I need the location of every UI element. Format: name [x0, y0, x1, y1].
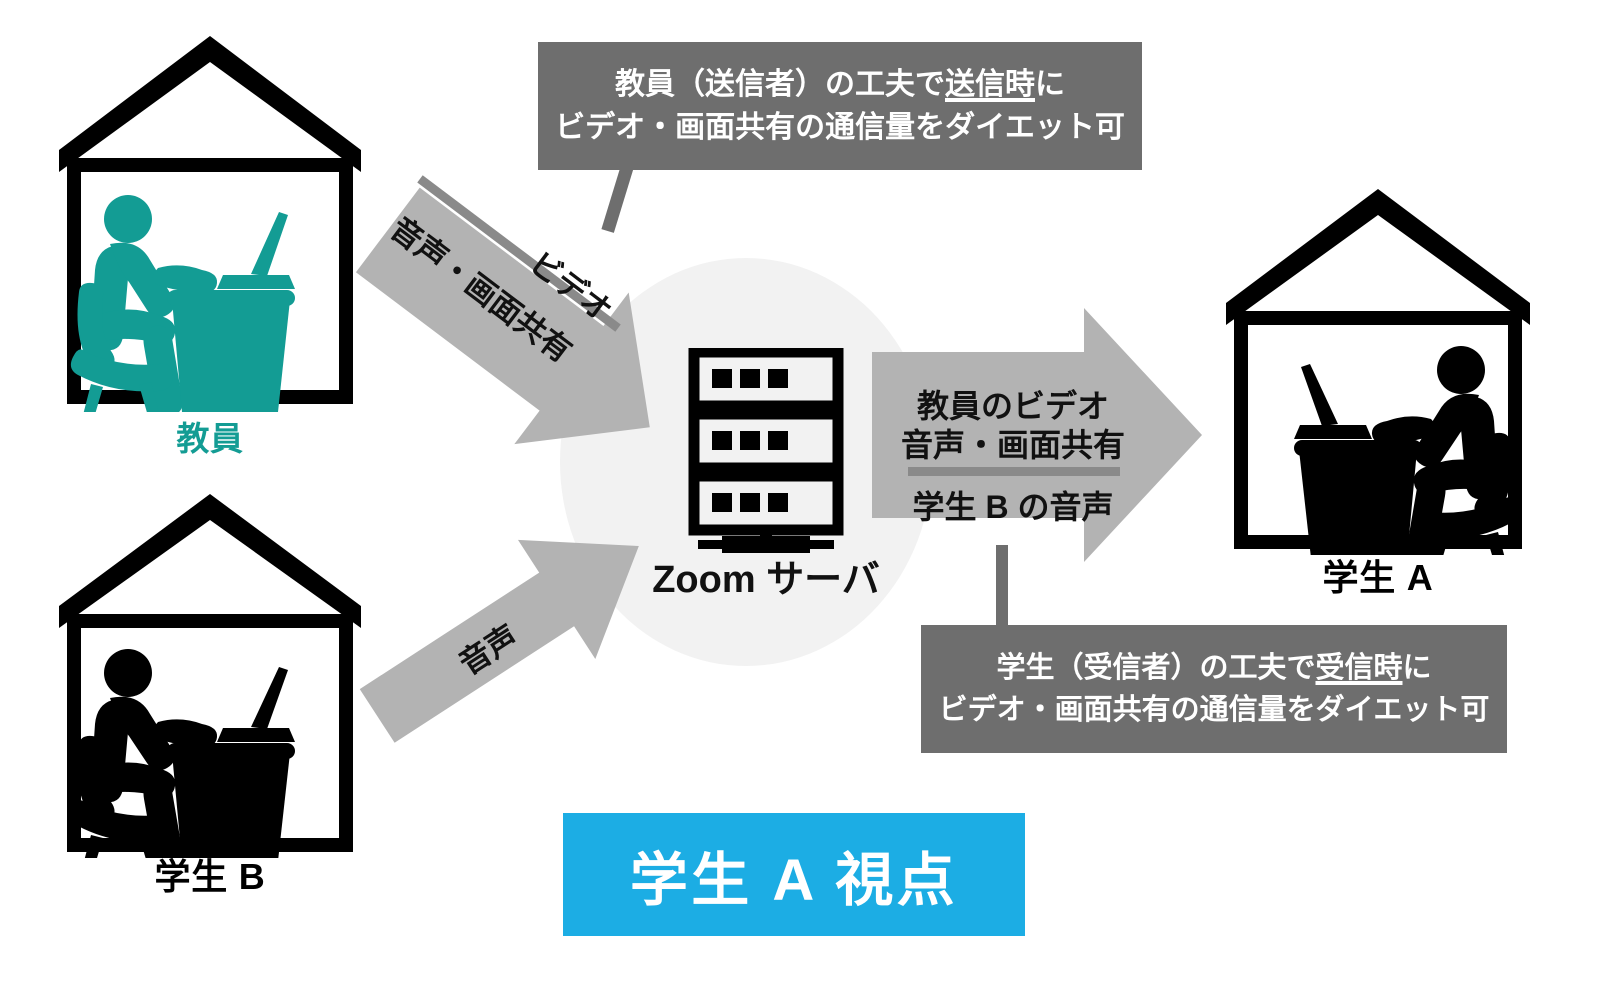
viewpoint-banner: 学生 A 視点	[563, 813, 1025, 936]
student-a-house	[1222, 185, 1534, 555]
student-b-figure-icon	[71, 649, 295, 858]
receiver-callout-line1-pre: 学生（受信者）の工夫で	[996, 652, 1315, 684]
sender-callout-line1-post: に	[1035, 68, 1065, 101]
receiver-callout-line-1: 学生（受信者）の工夫で受信時に	[996, 647, 1431, 689]
teacher-house	[55, 32, 365, 412]
teacher-house-label: 教員	[55, 412, 365, 460]
viewpoint-banner-label: 学生 A 視点	[630, 833, 958, 917]
receiver-callout-line1-post: に	[1403, 652, 1432, 684]
zoom-server-icon	[688, 348, 844, 538]
sender-callout: 教員（送信者）の工夫で送信時に ビデオ・画面共有の通信量をダイエット可	[538, 42, 1142, 170]
arrow-student-a-label-b-audio: 学生 B の音声	[888, 482, 1138, 528]
receiver-callout: 学生（受信者）の工夫で受信時に ビデオ・画面共有の通信量をダイエット可	[921, 625, 1507, 753]
student-a-figure-icon	[1294, 346, 1518, 555]
sender-callout-line-1: 教員（送信者）の工夫で送信時に	[615, 63, 1065, 107]
arrow-student-a-label-audio-screen: 音声・画面共有	[888, 420, 1138, 466]
sender-callout-line1-underlined: 送信時	[945, 68, 1035, 101]
receiver-callout-connector	[996, 545, 1008, 627]
receiver-callout-line1-underlined: 受信時	[1315, 652, 1402, 684]
sender-callout-line-2: ビデオ・画面共有の通信量をダイエット可	[555, 106, 1125, 150]
sender-callout-line1-pre: 教員（送信者）の工夫で	[615, 68, 945, 101]
student-b-house-label: 学生 B	[55, 848, 365, 900]
diagram-canvas: 教員 学生 B	[0, 0, 1600, 1000]
arrow-student-a-divider	[908, 467, 1120, 476]
student-a-house-label: 学生 A	[1222, 549, 1534, 601]
teacher-figure-icon	[71, 195, 295, 412]
receiver-callout-line-2: ビデオ・画面共有の通信量をダイエット可	[939, 689, 1490, 731]
student-b-house	[55, 490, 365, 858]
